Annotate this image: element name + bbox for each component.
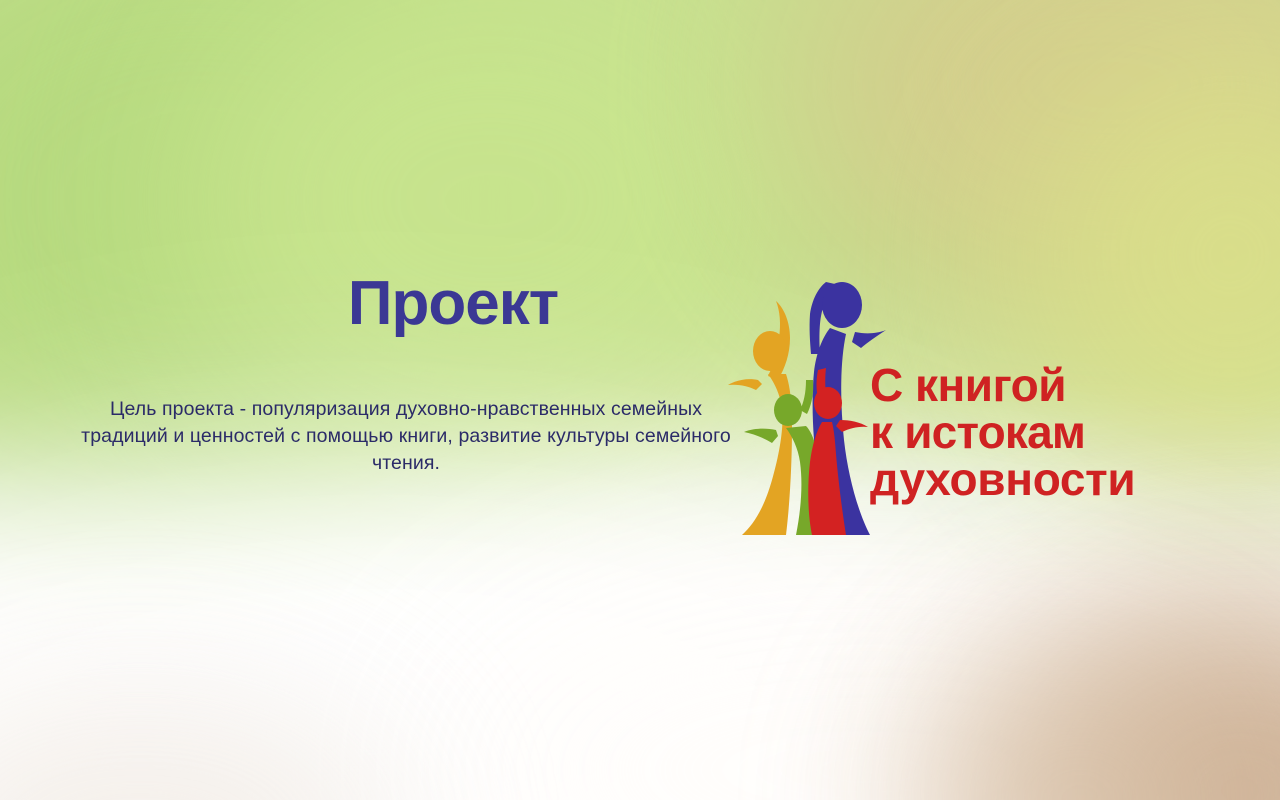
bg-blob-white-bottom-2 (420, 560, 1280, 800)
slide-canvas: Проект Цель проекта - популяризация духо… (0, 0, 1280, 800)
logo-wordmark-line-3: духовности (870, 456, 1200, 503)
bg-blob-tan-bottom-right (1000, 600, 1280, 800)
bg-blob-pale-left-bottom (0, 690, 400, 800)
slide-heading: Проект (180, 273, 726, 335)
project-purpose-text: Цель проекта - популяризация духовно-нра… (72, 396, 740, 477)
logo-wordmark-line-1: С книгой (870, 362, 1200, 409)
logo-family-tree-mark (718, 262, 888, 552)
family-tree-icon (718, 262, 888, 552)
bg-blob-tan-soft (900, 660, 1260, 800)
logo-wordmark: С книгой к истокам духовности (870, 362, 1200, 503)
project-logo: С книгой к истокам духовности (718, 262, 1196, 552)
logo-wordmark-line-2: к истокам (870, 409, 1200, 456)
bg-blob-green-mid (180, 0, 800, 460)
